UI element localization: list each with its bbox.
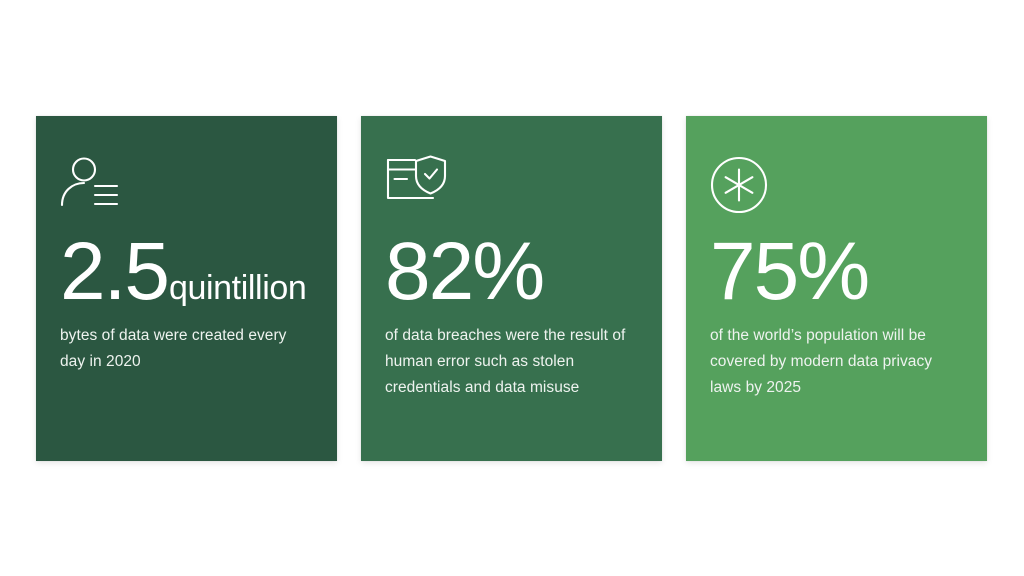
stat-description: of data breaches were the result of huma… [385,323,638,401]
stat-cards-stage: 2.5 quintillion bytes of data were creat… [0,0,1024,576]
stat-number: 2.5 [60,234,168,309]
stat-card-data-breaches: 82% of data breaches were the result of … [361,116,662,461]
stat-unit: quintillion [168,271,306,305]
stat-description: of the world’s population will be covere… [710,323,963,401]
asterisk-in-circle-icon [710,156,963,212]
stat-number: 82% [385,234,543,309]
stat-figure: 82% [385,234,638,309]
stat-figure: 75% [710,234,963,309]
stat-card-data-created: 2.5 quintillion bytes of data were creat… [36,116,337,461]
card-shield-check-icon [385,156,638,212]
stat-description: bytes of data were created every day in … [60,323,313,375]
stat-number: 75% [710,234,868,309]
stat-card-privacy-laws: 75% of the world’s population will be co… [686,116,987,461]
person-with-lines-icon [60,156,313,212]
stat-figure: 2.5 quintillion [60,234,313,309]
stat-cards-row: 2.5 quintillion bytes of data were creat… [36,116,987,461]
